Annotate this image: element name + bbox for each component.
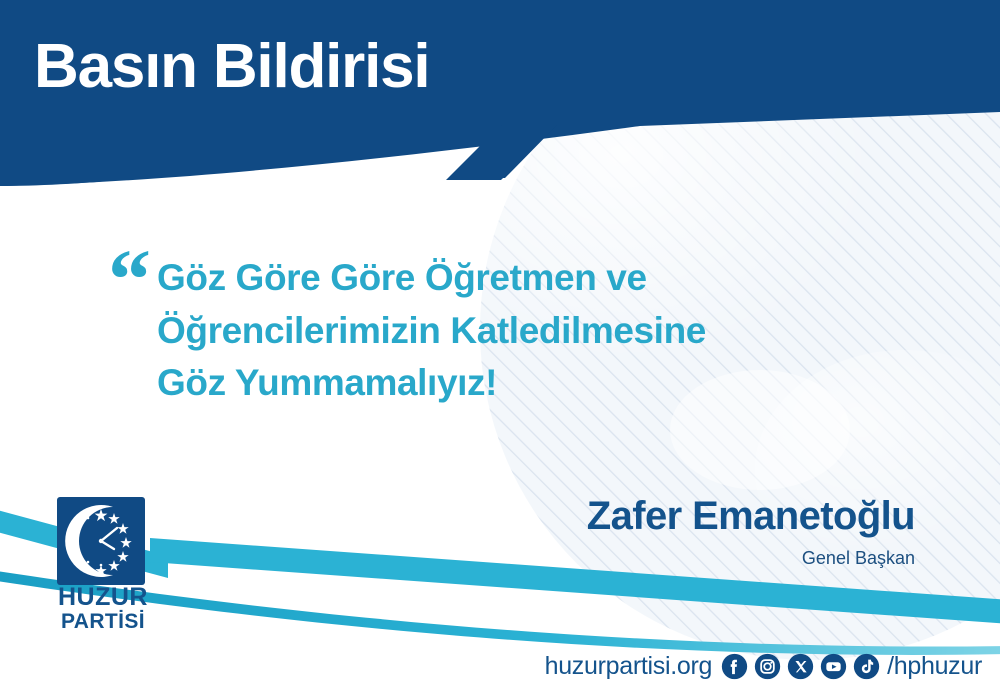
instagram-icon[interactable] [754, 653, 781, 680]
quote-line-1: Göz Göre Göre Öğretmen ve [157, 252, 867, 305]
tiktok-icon[interactable] [853, 653, 880, 680]
logo-wordmark-top: HUZUR [57, 585, 149, 610]
signature-name: Zafer Emanetoğlu [587, 494, 915, 539]
press-release-poster: Basın Bildirisi “ Göz Göre Göre Öğretmen… [0, 0, 1000, 695]
website-url[interactable]: huzurpartisi.org [545, 652, 713, 681]
x-twitter-icon[interactable] [787, 653, 814, 680]
quote-line-3: Göz Yummamalıyız! [157, 357, 867, 410]
open-quote-icon: “ [108, 236, 151, 322]
logo-wordmark-bottom: PARTİSİ [57, 611, 149, 632]
party-logo: HUZUR PARTİSİ [57, 497, 149, 632]
quote-line-2: Öğrencilerimizin Katledilmesine [157, 305, 867, 358]
facebook-icon[interactable] [721, 653, 748, 680]
footer-bar: huzurpartisi.org /hphuzu [545, 652, 982, 681]
youtube-icon[interactable] [820, 653, 847, 680]
social-handle[interactable]: /hphuzur [887, 652, 982, 681]
page-title: Basın Bildirisi [34, 36, 429, 98]
quote-text: Göz Göre Göre Öğretmen ve Öğrencilerimiz… [157, 252, 867, 410]
logo-wordmark: HUZUR PARTİSİ [57, 585, 149, 632]
signature-role: Genel Başkan [802, 548, 915, 569]
huzur-partisi-crescent-clock-icon [57, 497, 145, 585]
